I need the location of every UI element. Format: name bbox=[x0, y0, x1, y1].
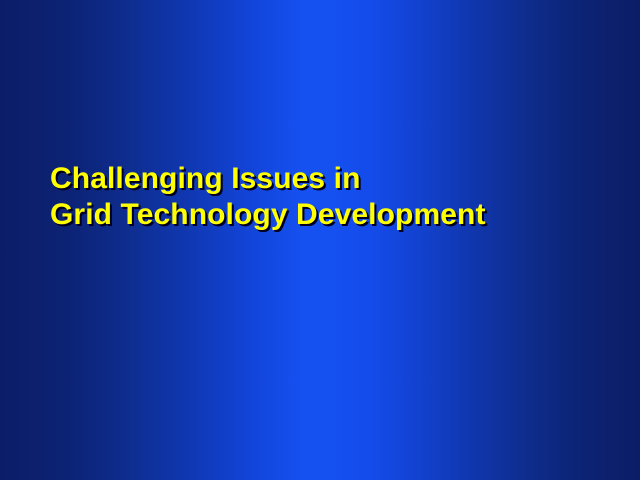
title-line-1: Challenging Issues in bbox=[50, 161, 590, 197]
slide-title: Challenging Issues in Grid Technology De… bbox=[50, 161, 590, 233]
presentation-slide: Challenging Issues in Grid Technology De… bbox=[0, 0, 640, 480]
title-line-2: Grid Technology Development bbox=[50, 197, 590, 233]
